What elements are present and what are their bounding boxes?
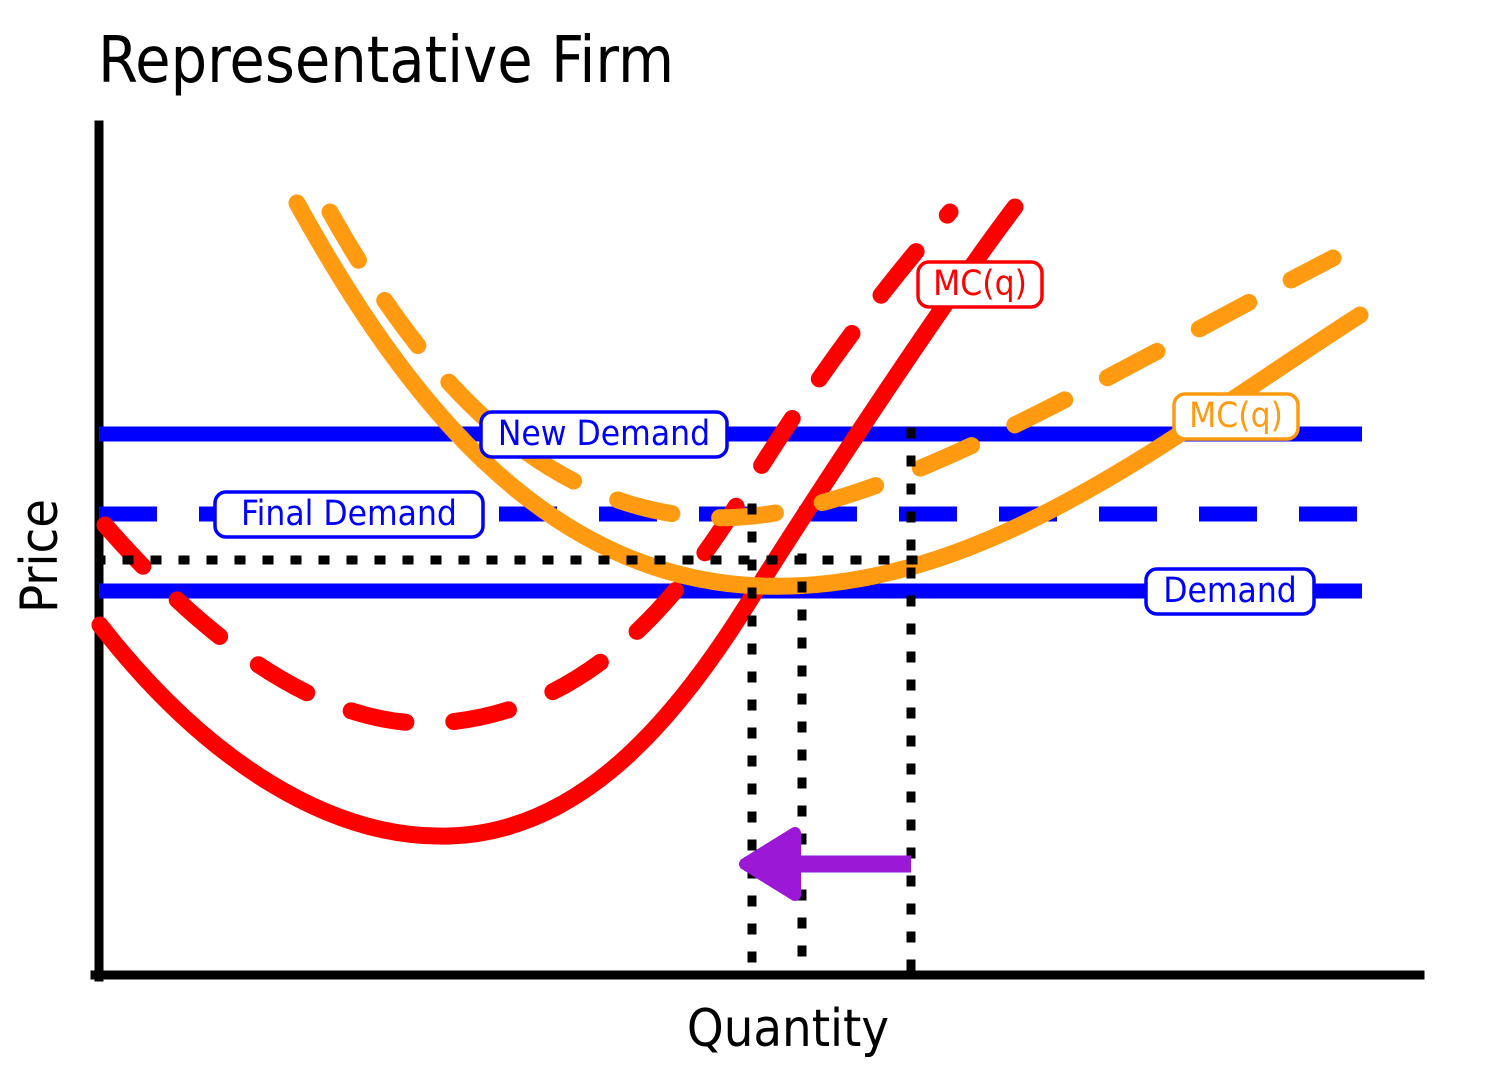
y-axis-label: Price xyxy=(10,499,70,613)
callout-mc-red[interactable]: MC(q) xyxy=(918,262,1042,307)
page-title: Representative Firm xyxy=(98,24,674,98)
callout-demand-label: Demand xyxy=(1163,571,1297,611)
callout-new-demand[interactable]: New Demand xyxy=(481,412,727,457)
quantity-decrease-arrow xyxy=(745,833,911,895)
x-axis-label: Quantity xyxy=(687,999,889,1059)
chart-canvas: New Demand Final Demand Demand MC(q) MC(… xyxy=(0,0,1512,1080)
callout-mc-orange[interactable]: MC(q) xyxy=(1174,394,1298,439)
callout-mc-orange-label: MC(q) xyxy=(1189,396,1283,436)
mc-red-dashed-curve[interactable] xyxy=(105,212,950,723)
callout-final-demand[interactable]: Final Demand xyxy=(215,492,483,537)
callout-new-demand-label: New Demand xyxy=(498,414,710,454)
representative-firm-chart: New Demand Final Demand Demand MC(q) MC(… xyxy=(0,0,1512,1080)
callout-demand[interactable]: Demand xyxy=(1146,569,1314,614)
callout-final-demand-label: Final Demand xyxy=(241,494,457,534)
callout-mc-red-label: MC(q) xyxy=(933,264,1027,304)
